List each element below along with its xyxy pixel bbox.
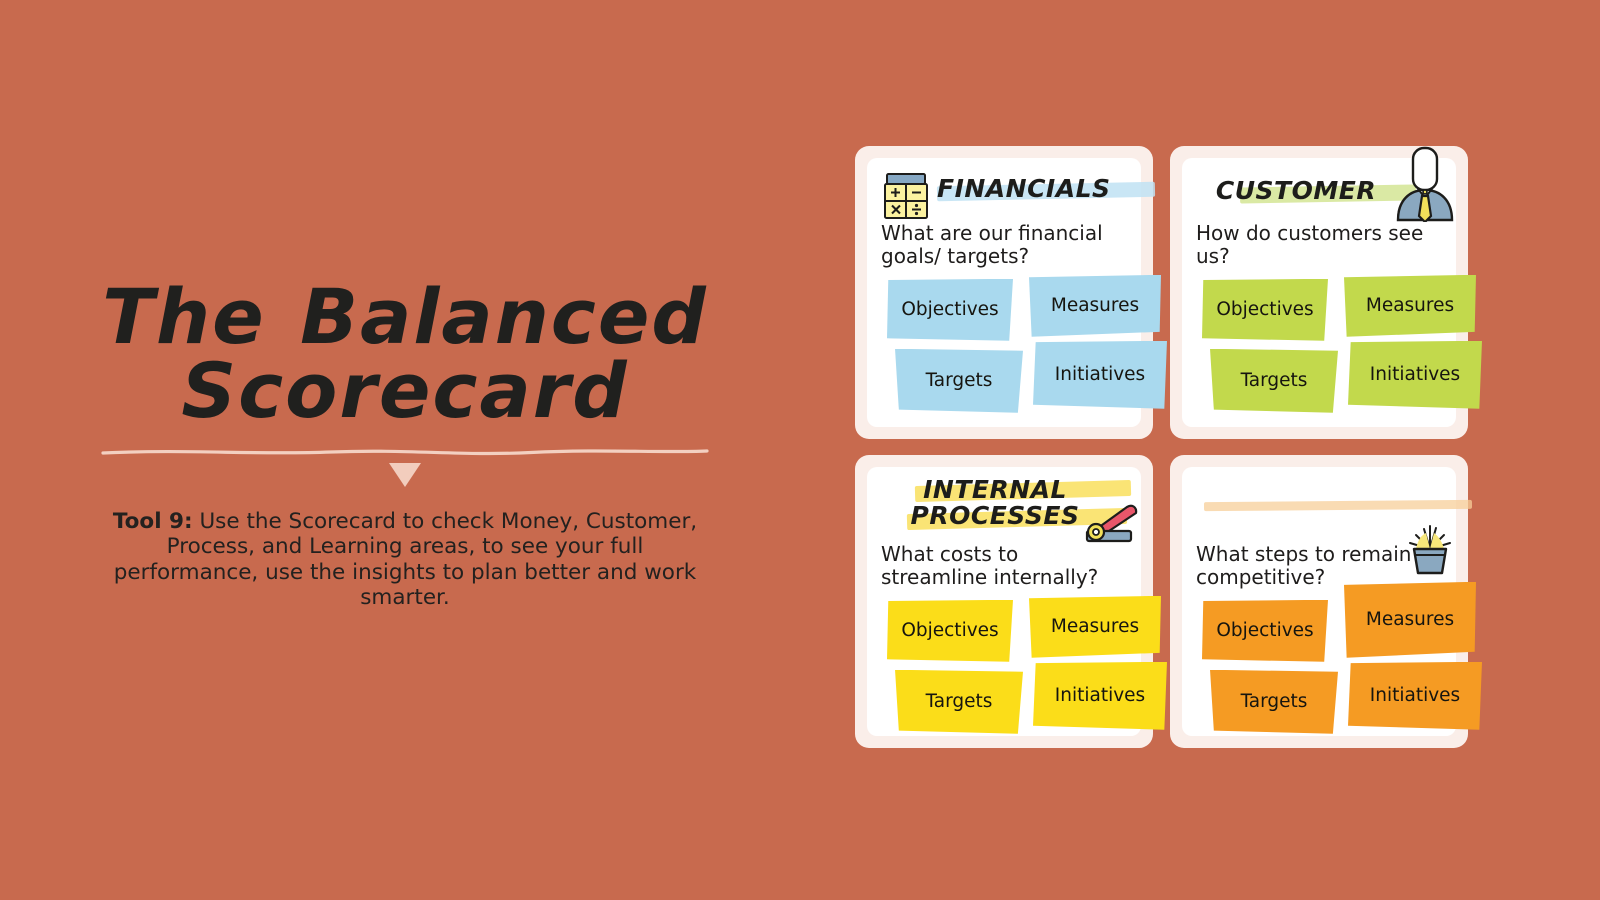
divider-arrow-icon bbox=[389, 463, 421, 487]
note-initiatives[interactable]: Initiatives bbox=[1033, 341, 1167, 409]
note-label: Targets bbox=[1241, 691, 1308, 712]
card-customer-question: How do customers see us? bbox=[1196, 222, 1442, 269]
card-customer[interactable]: CUSTOMER How do customers see us? Object… bbox=[1170, 146, 1468, 439]
title-panel: The Balanced Scorecard Tool 9: Use the S… bbox=[60, 280, 750, 610]
note-targets[interactable]: Targets bbox=[1210, 670, 1338, 734]
note-label: Measures bbox=[1051, 616, 1139, 637]
card-learning-growth-notes: Objectives Measures Targets Initiatives bbox=[1196, 600, 1442, 740]
note-label: Initiatives bbox=[1370, 364, 1460, 385]
card-internal-processes[interactable]: INTERNAL PROCESSES What costs to streaml… bbox=[855, 455, 1153, 748]
note-targets[interactable]: Targets bbox=[1210, 349, 1338, 413]
card-financials[interactable]: FINANCIALS What are our financial goals/… bbox=[855, 146, 1153, 439]
calculator-icon bbox=[883, 172, 929, 224]
note-objectives[interactable]: Objectives bbox=[1202, 279, 1328, 341]
note-label: Initiatives bbox=[1370, 685, 1460, 706]
card-financials-question: What are our financial goals/ targets? bbox=[881, 222, 1127, 269]
card-customer-header: CUSTOMER bbox=[1196, 168, 1442, 220]
note-label: Initiatives bbox=[1055, 364, 1145, 385]
note-label: Initiatives bbox=[1055, 685, 1145, 706]
subtitle-lead: Tool 9: bbox=[113, 509, 193, 534]
card-financials-title: FINANCIALS bbox=[937, 168, 1127, 202]
note-label: Targets bbox=[926, 691, 993, 712]
card-internal-processes-header: INTERNAL PROCESSES bbox=[881, 477, 1127, 541]
note-measures[interactable]: Measures bbox=[1344, 582, 1476, 658]
subtitle-body: Use the Scorecard to check Money, Custom… bbox=[114, 509, 697, 610]
card-financials-inner: FINANCIALS What are our financial goals/… bbox=[867, 158, 1141, 427]
note-label: Measures bbox=[1366, 609, 1454, 630]
note-label: Targets bbox=[926, 370, 993, 391]
note-targets[interactable]: Targets bbox=[895, 349, 1023, 413]
note-measures[interactable]: Measures bbox=[1029, 275, 1161, 337]
note-label: Objectives bbox=[901, 620, 998, 641]
businessman-icon bbox=[1394, 142, 1456, 226]
highlighter-stroke bbox=[1204, 500, 1472, 511]
note-label: Objectives bbox=[1216, 299, 1313, 320]
note-label: Targets bbox=[1241, 370, 1308, 391]
note-label: Objectives bbox=[1216, 620, 1313, 641]
card-customer-inner: CUSTOMER How do customers see us? Object… bbox=[1182, 158, 1456, 427]
card-internal-processes-inner: INTERNAL PROCESSES What costs to streaml… bbox=[867, 467, 1141, 736]
note-objectives[interactable]: Objectives bbox=[1202, 600, 1328, 662]
card-financials-header: FINANCIALS bbox=[881, 168, 1127, 220]
card-customer-notes: Objectives Measures Targets Initiatives bbox=[1196, 279, 1442, 419]
note-initiatives[interactable]: Initiatives bbox=[1348, 662, 1482, 730]
note-measures[interactable]: Measures bbox=[1029, 596, 1161, 658]
title-divider bbox=[101, 447, 709, 457]
page-title-line-2: Scorecard bbox=[181, 346, 628, 435]
note-objectives[interactable]: Objectives bbox=[887, 279, 1013, 341]
scorecard-quadrant-grid: FINANCIALS What are our financial goals/… bbox=[855, 146, 1480, 752]
potted-plant-icon bbox=[1406, 523, 1454, 579]
note-initiatives[interactable]: Initiatives bbox=[1348, 341, 1482, 409]
subtitle: Tool 9: Use the Scorecard to check Money… bbox=[91, 509, 719, 610]
card-internal-processes-notes: Objectives Measures Targets Initiatives bbox=[881, 600, 1127, 740]
note-initiatives[interactable]: Initiatives bbox=[1033, 662, 1167, 730]
note-label: Measures bbox=[1051, 295, 1139, 316]
note-label: Measures bbox=[1366, 295, 1454, 316]
card-learning-growth-inner: What steps to remain competitive? Object… bbox=[1182, 467, 1456, 736]
note-measures[interactable]: Measures bbox=[1344, 275, 1476, 337]
card-financials-notes: Objectives Measures Targets Initiatives bbox=[881, 279, 1127, 419]
page-title: The Balanced Scorecard bbox=[60, 280, 750, 429]
card-learning-growth[interactable]: What steps to remain competitive? Object… bbox=[1170, 455, 1468, 748]
note-targets[interactable]: Targets bbox=[895, 670, 1023, 734]
card-internal-processes-question: What costs to streamline internally? bbox=[881, 543, 1127, 590]
note-label: Objectives bbox=[901, 299, 998, 320]
note-objectives[interactable]: Objectives bbox=[887, 600, 1013, 662]
stapler-icon bbox=[1079, 501, 1139, 549]
